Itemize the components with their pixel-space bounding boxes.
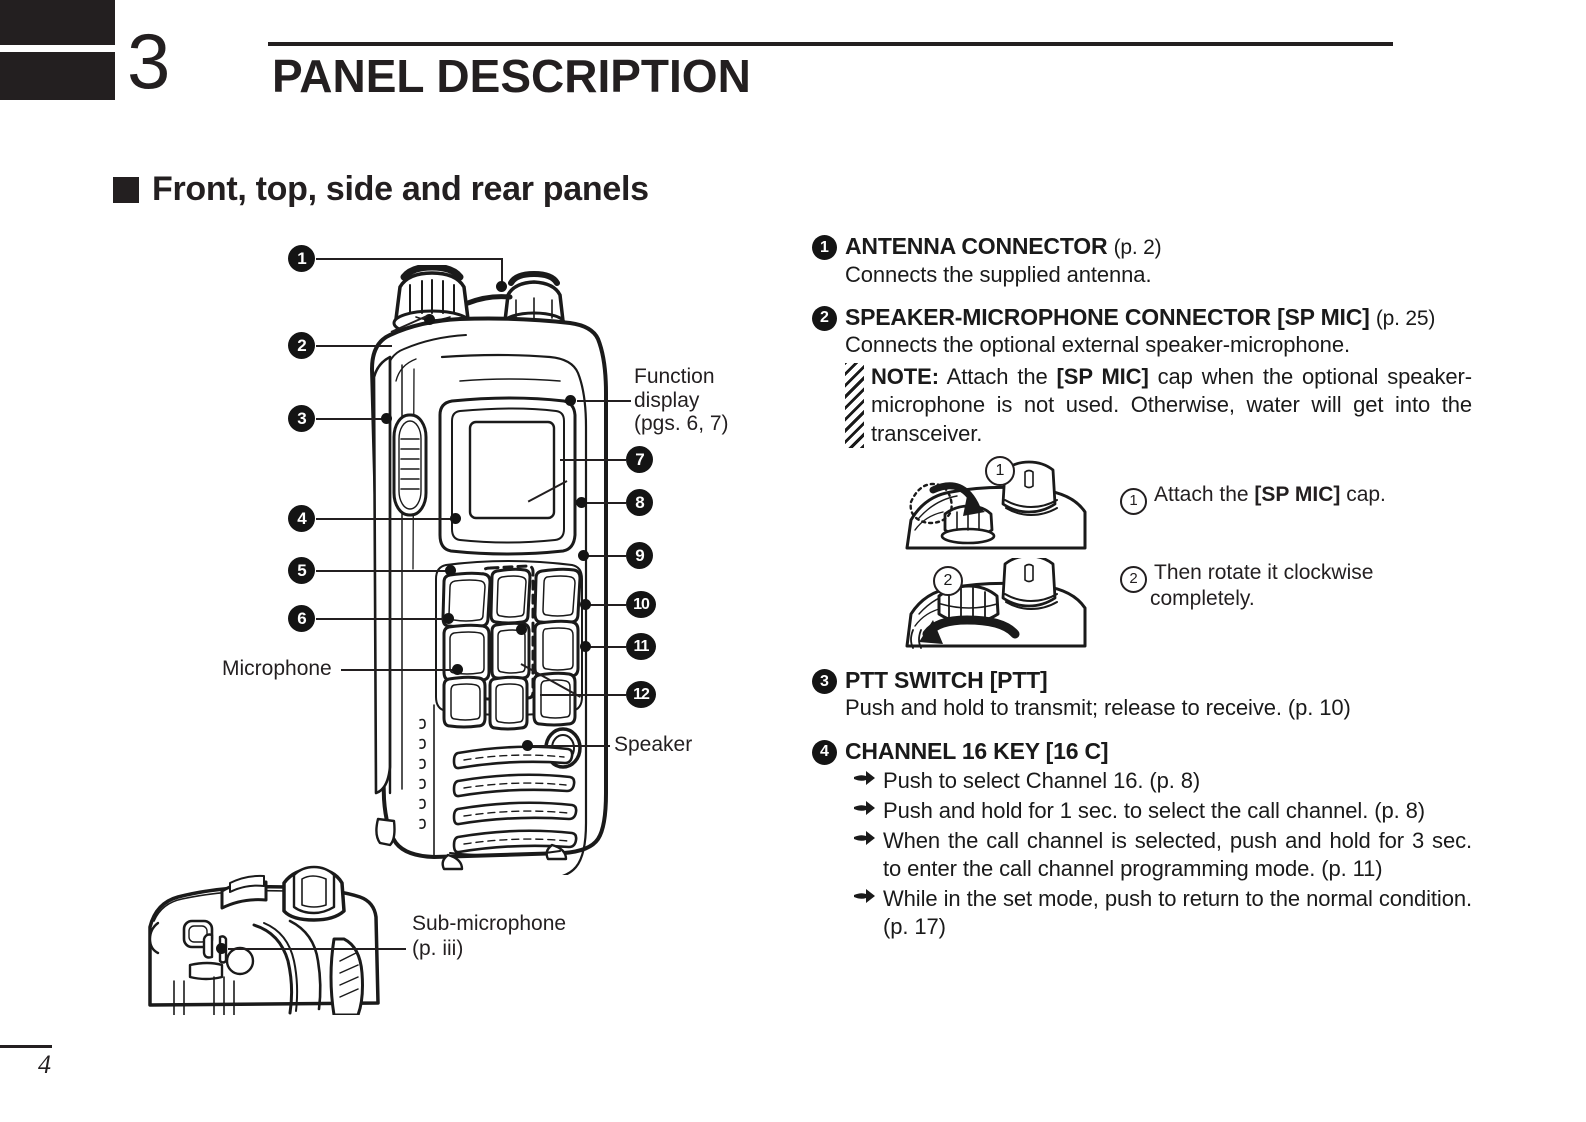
leader-line-4 xyxy=(316,518,456,520)
arrow-right-icon xyxy=(854,771,876,785)
list-item-text: While in the set mode, push to return to… xyxy=(883,885,1472,941)
leader-line-1 xyxy=(316,258,502,260)
description-item-2-heading: 2 SPEAKER-MICROPHONE CONNECTOR [SP MIC] … xyxy=(812,303,1472,332)
leader-line-10 xyxy=(586,604,626,606)
item-4-bullet-list: Push to select Channel 16. (p. 8) Push a… xyxy=(854,767,1472,942)
item-1-title: ANTENNA CONNECTOR xyxy=(845,233,1107,259)
list-item: Push and hold for 1 sec. to select the c… xyxy=(854,797,1472,825)
cap-step-1-pre: Attach the xyxy=(1154,483,1254,506)
leader-line-5 xyxy=(316,570,450,572)
figure-callout-1: 1 xyxy=(288,245,315,272)
description-item-1-heading: 1 ANTENNA CONNECTOR (p. 2) xyxy=(812,232,1472,261)
item-2-title: SPEAKER-MICROPHONE CONNECTOR [SP MIC] xyxy=(845,304,1370,330)
leader-line-8 xyxy=(582,502,626,504)
item-bullet-3: 3 xyxy=(812,669,837,694)
arrow-right-icon xyxy=(854,889,876,903)
description-item-3: 3 PTT SWITCH [PTT] Push and hold to tran… xyxy=(812,666,1472,722)
leader-dot-microphone xyxy=(452,664,463,675)
circled-number-2: 2 xyxy=(1120,566,1147,593)
list-item: When the call channel is selected, push … xyxy=(854,827,1472,883)
cap-step-1-text: 1Attach the [SP MIC] cap. xyxy=(1120,482,1386,515)
chapter-number: 3 xyxy=(127,22,168,100)
leader-dot-6 xyxy=(443,613,454,624)
item-1-body: Connects the supplied antenna. xyxy=(845,261,1472,289)
figure-callout-11: 11 xyxy=(626,633,656,660)
leader-line-6 xyxy=(316,618,448,620)
microphone-label: Microphone xyxy=(222,657,332,682)
description-item-3-heading: 3 PTT SWITCH [PTT] xyxy=(812,666,1472,694)
leader-dot-9 xyxy=(578,550,589,561)
sub-microphone-label-line1: Sub-microphone xyxy=(412,912,566,937)
figure-callout-12: 12 xyxy=(626,681,656,708)
item-4-title: CHANNEL 16 KEY [16 C] xyxy=(845,738,1108,764)
cap-attach-step2-illustration xyxy=(905,558,1090,650)
leader-dot-5 xyxy=(445,565,456,576)
item-3-body: Push and hold to transmit; release to re… xyxy=(845,694,1472,722)
leader-line-microphone xyxy=(341,669,457,671)
leader-line-7 xyxy=(560,459,626,461)
description-item-1: 1 ANTENNA CONNECTOR (p. 2) Connects the … xyxy=(812,232,1472,289)
figure-callout-7: 7 xyxy=(626,446,653,473)
section-heading-label: Front, top, side and rear panels xyxy=(152,170,649,209)
item-bullet-4: 4 xyxy=(812,740,837,765)
item-2-page-ref: (p. 25) xyxy=(1376,307,1435,330)
cap-step-2-line1: Then rotate it clockwise xyxy=(1154,561,1373,584)
leader-line-function-display xyxy=(577,400,631,402)
figure-callout-2: 2 xyxy=(288,332,315,359)
footer-rule xyxy=(0,1045,52,1048)
header-rule xyxy=(268,42,1393,46)
leader-dot-8 xyxy=(576,497,587,508)
figure-callout-10: 10 xyxy=(626,591,656,618)
leader-line-2 xyxy=(316,345,392,347)
circled-number-1: 1 xyxy=(1120,488,1147,515)
description-item-4: 4 CHANNEL 16 KEY [16 C] Push to select C… xyxy=(812,737,1472,942)
list-item: While in the set mode, push to return to… xyxy=(854,885,1472,941)
cap-step-2-text-line2: completely. xyxy=(1150,586,1255,612)
arrow-right-icon xyxy=(854,801,876,815)
cap-figure-step2-marker: 2 xyxy=(933,566,963,596)
cap-step-1-bold: [SP MIC] xyxy=(1254,483,1340,506)
leader-dot-sub-microphone xyxy=(216,943,227,954)
note-text-part1: Attach the xyxy=(939,364,1057,389)
note-bold-term: [SP MIC] xyxy=(1057,364,1149,389)
leader-line-12 xyxy=(540,694,626,696)
sub-microphone-label-line2: (p. iii) xyxy=(412,937,463,962)
cap-step-1-post: cap. xyxy=(1340,483,1386,506)
function-display-label-line2: display xyxy=(634,389,699,414)
list-item-text: When the call channel is selected, push … xyxy=(883,827,1472,883)
leader-line-sub-microphone xyxy=(228,948,406,950)
leader-line-3 xyxy=(316,418,386,420)
leader-line-11 xyxy=(586,646,626,648)
list-item-text: Push to select Channel 16. (p. 8) xyxy=(883,767,1200,795)
leader-line-speaker xyxy=(530,745,610,747)
note-block: NOTE: Attach the [SP MIC] cap when the o… xyxy=(845,363,1472,449)
figure-callout-3: 3 xyxy=(288,405,315,432)
page-number: 4 xyxy=(38,1050,51,1080)
leader-dot-speaker xyxy=(522,740,533,751)
manual-page: 3 PANEL DESCRIPTION Front, top, side and… xyxy=(0,0,1586,1122)
leader-dot-function-display xyxy=(565,395,576,406)
list-item: Push to select Channel 16. (p. 8) xyxy=(854,767,1472,795)
square-bullet-icon xyxy=(113,177,139,203)
cap-figure-step1-marker: 1 xyxy=(985,456,1015,486)
chapter-tab-bar-bottom xyxy=(0,52,115,100)
function-display-label-line1: Function xyxy=(634,365,715,390)
list-item-text: Push and hold for 1 sec. to select the c… xyxy=(883,797,1425,825)
leader-line-9 xyxy=(584,555,626,557)
leader-dot-1 xyxy=(496,281,507,292)
leader-dot-10 xyxy=(580,599,591,610)
item-bullet-2: 2 xyxy=(812,306,837,331)
figure-callout-8: 8 xyxy=(626,489,653,516)
figure-callout-5: 5 xyxy=(288,557,315,584)
arrow-right-icon xyxy=(854,831,876,845)
leader-dot-11 xyxy=(580,641,591,652)
item-1-page-ref: (p. 2) xyxy=(1114,236,1162,259)
function-display-label-line3: (pgs. 6, 7) xyxy=(634,412,729,437)
leader-dot-4 xyxy=(450,513,461,524)
sp-mic-cap-figure: 1 2 1 xyxy=(905,458,1475,653)
item-2-body: Connects the optional external speaker-m… xyxy=(845,331,1472,359)
chapter-tab-bar-top xyxy=(0,0,115,45)
item-3-title: PTT SWITCH [PTT] xyxy=(845,667,1048,693)
description-item-2: 2 SPEAKER-MICROPHONE CONNECTOR [SP MIC] … xyxy=(812,303,1472,449)
item-bullet-1: 1 xyxy=(812,235,837,260)
section-heading: Front, top, side and rear panels xyxy=(113,170,649,209)
leader-dot-12 xyxy=(516,624,527,635)
note-text: NOTE: Attach the [SP MIC] cap when the o… xyxy=(871,363,1472,449)
chapter-title: PANEL DESCRIPTION xyxy=(272,53,751,99)
figure-callout-9: 9 xyxy=(626,542,653,569)
description-item-4-heading: 4 CHANNEL 16 KEY [16 C] xyxy=(812,737,1472,765)
radio-rear-view-illustration xyxy=(148,865,408,1015)
note-label: NOTE: xyxy=(871,364,939,389)
figure-callout-4: 4 xyxy=(288,505,315,532)
leader-dot-3 xyxy=(381,413,392,424)
note-hatch-bar-icon xyxy=(845,363,864,449)
speaker-label: Speaker xyxy=(614,733,692,758)
figure-callout-6: 6 xyxy=(288,605,315,632)
